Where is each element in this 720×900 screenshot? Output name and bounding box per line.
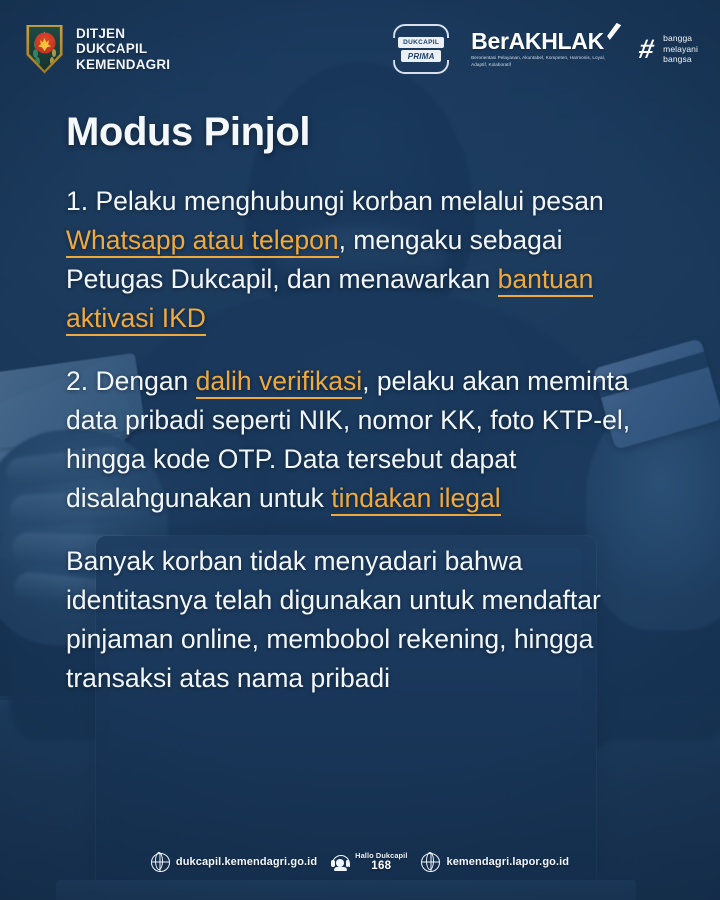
bmb-line-3: bangsa <box>663 54 698 65</box>
footer-hotline[interactable]: Hallo Dukcapil 168 <box>331 852 407 872</box>
infographic-poster: DITJEN DUKCAPIL KEMENDAGRI DUKCAPIL PRIM… <box>0 0 720 900</box>
poster-footer: dukcapil.kemendagri.go.id Hallo Dukcapil… <box>0 852 720 872</box>
paragraph-point-2: 2. Dengan dalih verifikasi, pelaku akan … <box>66 362 666 518</box>
berakhlak-subtitle: Berorientasi Pelayanan, Akuntabel, Kompe… <box>471 55 607 68</box>
footer-website-primary-label: dukcapil.kemendagri.go.id <box>176 856 317 868</box>
body-text-run: 1. Pelaku menghubungi korban melalui pes… <box>66 186 604 216</box>
dukcapil-prima-logo: DUKCAPIL PRIMA <box>391 22 451 76</box>
globe-icon <box>151 853 170 872</box>
poster-body: 1. Pelaku menghubungi korban melalui pes… <box>66 182 666 698</box>
body-text-run: Banyak korban tidak menyadari bahwa iden… <box>66 546 601 693</box>
poster-header: DITJEN DUKCAPIL KEMENDAGRI DUKCAPIL PRIM… <box>0 0 720 100</box>
bmb-line-2: melayani <box>663 44 698 55</box>
prima-bottom-text: PRIMA <box>401 50 441 62</box>
page-title: Modus Pinjol <box>66 110 310 155</box>
bmb-text: bangga melayani bangsa <box>663 33 698 66</box>
headset-icon <box>331 853 349 871</box>
globe-icon <box>421 853 440 872</box>
kemendagri-shield-icon <box>24 24 65 74</box>
bmb-line-1: bangga <box>663 33 698 44</box>
highlighted-phrase: tindakan ilegal <box>331 483 500 516</box>
footer-website-primary[interactable]: dukcapil.kemendagri.go.id <box>151 853 317 872</box>
footer-website-secondary[interactable]: kemendagri.lapor.go.id <box>421 853 569 872</box>
hotline-block: Hallo Dukcapil 168 <box>355 852 407 872</box>
partner-logo-row: DUKCAPIL PRIMA BerAKHLAK Berorientasi Pe… <box>391 22 698 76</box>
footer-website-secondary-label: kemendagri.lapor.go.id <box>446 856 569 868</box>
hash-icon: # <box>637 37 660 62</box>
body-text-run: 2. Dengan <box>66 366 196 396</box>
prima-top-text: DUKCAPIL <box>398 37 444 48</box>
brand-lockup: DITJEN DUKCAPIL KEMENDAGRI <box>24 24 170 74</box>
highlighted-phrase: Whatsapp atau telepon <box>66 225 339 258</box>
hotline-label: Hallo Dukcapil <box>355 852 407 860</box>
hotline-number: 168 <box>355 860 407 872</box>
highlighted-phrase: dalih verifikasi <box>196 366 362 399</box>
berakhlak-title: BerAKHLAK <box>471 30 607 53</box>
brand-line-2: DUKCAPIL <box>76 41 170 56</box>
paragraph-point-1: 1. Pelaku menghubungi korban melalui pes… <box>66 182 666 338</box>
brand-line-1: DITJEN <box>76 26 170 41</box>
brand-line-3: KEMENDAGRI <box>76 57 170 72</box>
paragraph-closing-note: Banyak korban tidak menyadari bahwa iden… <box>66 542 666 698</box>
brand-text: DITJEN DUKCAPIL KEMENDAGRI <box>76 26 170 71</box>
berakhlak-logo: BerAKHLAK Berorientasi Pelayanan, Akunta… <box>471 30 619 68</box>
bangga-melayani-bangsa-logo: # bangga melayani bangsa <box>639 33 698 66</box>
berakhlak-swoosh-icon <box>606 23 621 40</box>
